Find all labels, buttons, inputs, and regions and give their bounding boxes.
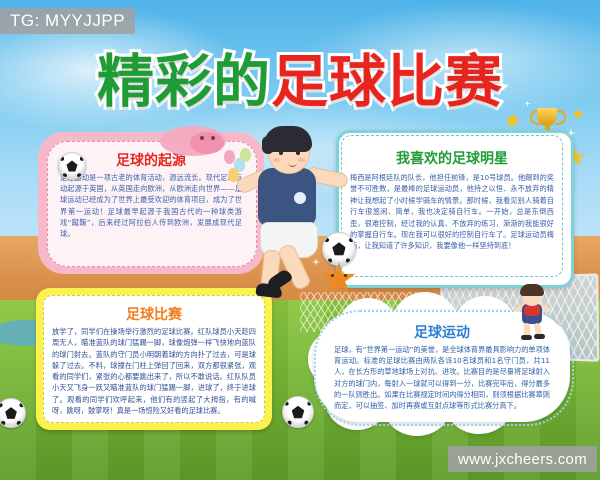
boy-goalkeeper (512, 284, 554, 340)
boy-eye-left (279, 150, 283, 155)
trophy-cup (537, 108, 557, 126)
boy-eye-right (296, 150, 300, 155)
watermark-top-left: TG: MYYJJPP (0, 8, 135, 34)
small-boy-vest (524, 305, 540, 316)
soccer-ball-icon (282, 396, 314, 428)
boy-jersey-logo (294, 192, 306, 204)
small-boy-shoe-left (521, 335, 532, 340)
panel-match-body: 放学了，同学们在操场举行激烈的足球比赛。红队球员小天趁四周无人，瞄准蓝队的球门猛… (52, 326, 256, 422)
boy-cheek-right (298, 158, 305, 162)
watermark-bottom-right: www.jxcheers.com (448, 446, 597, 472)
boy-hair-side (262, 136, 274, 154)
poster-canvas: 精彩的足球比赛 足球的起源 足球运动是一项古老的体育活动，源远流长。现代足球运动… (0, 0, 600, 480)
panel-origin-body: 足球运动是一项古老的体育活动，源远流长。现代足球运动起源于英国，从英国走向欧洲，… (60, 172, 242, 260)
boy-cheek-left (273, 158, 280, 162)
boy-jersey (258, 168, 316, 226)
soccer-ball-icon (0, 398, 26, 428)
boy-kicking-ball (232, 118, 348, 312)
panel-star-body: 梅西是阿根廷队的队长，他担任前锋，是10号球员。他踢到的奖誉不可胜数，是最棒的足… (350, 172, 554, 272)
panel-star-title: 我喜欢的足球明星 (336, 148, 568, 168)
soccer-ball-icon (322, 232, 356, 266)
star-eye-left (331, 274, 334, 277)
panel-sport-body: 足球，有“世界第一运动”的美誉，是全球体育界最具影响力的单项体育运动。标准的足球… (334, 344, 550, 428)
small-boy-shoe-right (534, 334, 545, 339)
panel-favorite-star[interactable]: 我喜欢的足球明星 梅西是阿根廷队的队长，他担任前锋，是10号球员。他踢到的奖誉不… (336, 130, 568, 282)
star-eye-right (344, 274, 347, 277)
soccer-ball-icon (58, 152, 86, 180)
cloud-eye-icon (211, 136, 215, 140)
pink-cloud-decoration-small (190, 132, 224, 154)
small-boy-hair (520, 284, 544, 296)
cloud-eye-icon (200, 136, 204, 140)
